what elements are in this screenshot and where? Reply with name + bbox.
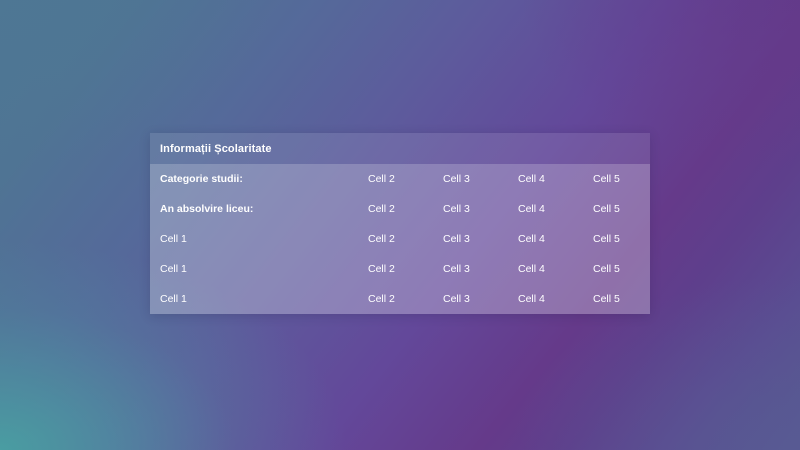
- table-cell: Cell 4: [518, 224, 593, 254]
- table-cell: Cell 3: [443, 284, 518, 314]
- table-cell: Cell 3: [443, 224, 518, 254]
- table-cell: Cell 2: [368, 254, 443, 284]
- table-cell: Cell 2: [368, 224, 443, 254]
- table-cell-label: An absolvire liceu:: [150, 194, 368, 224]
- table-cell: Cell 2: [368, 194, 443, 224]
- table-body: Categorie studii: Cell 2 Cell 3 Cell 4 C…: [150, 164, 660, 314]
- table-row[interactable]: Cell 1 Cell 2 Cell 3 Cell 4 Cell 5: [150, 254, 660, 284]
- schooling-info-card: Informații Școlaritate Categorie studii:…: [150, 133, 650, 314]
- table-row[interactable]: An absolvire liceu: Cell 2 Cell 3 Cell 4…: [150, 194, 660, 224]
- table-cell: Cell 1: [150, 224, 368, 254]
- page-title: Informații Școlaritate: [160, 143, 272, 155]
- table-row[interactable]: Cell 1 Cell 2 Cell 3 Cell 4 Cell 5: [150, 224, 660, 254]
- table-cell: Cell 5: [593, 284, 660, 314]
- table-row[interactable]: Cell 1 Cell 2 Cell 3 Cell 4 Cell 5: [150, 284, 660, 314]
- table-cell: Cell 1: [150, 284, 368, 314]
- table-cell-label: Categorie studii:: [150, 164, 368, 194]
- card-header: Informații Școlaritate: [150, 133, 650, 164]
- table-row[interactable]: Categorie studii: Cell 2 Cell 3 Cell 4 C…: [150, 164, 660, 194]
- table-cell: Cell 3: [443, 194, 518, 224]
- table-cell: Cell 4: [518, 194, 593, 224]
- table-cell: Cell 3: [443, 164, 518, 194]
- table-cell: Cell 5: [593, 164, 660, 194]
- table-cell: Cell 5: [593, 224, 660, 254]
- table-cell: Cell 2: [368, 284, 443, 314]
- table-cell: Cell 2: [368, 164, 443, 194]
- table-cell: Cell 5: [593, 194, 660, 224]
- table-cell: Cell 5: [593, 254, 660, 284]
- table-cell: Cell 4: [518, 254, 593, 284]
- table-cell: Cell 4: [518, 284, 593, 314]
- table-cell: Cell 4: [518, 164, 593, 194]
- table-cell: Cell 1: [150, 254, 368, 284]
- schooling-info-table: Categorie studii: Cell 2 Cell 3 Cell 4 C…: [150, 164, 660, 314]
- table-cell: Cell 3: [443, 254, 518, 284]
- card-body: Categorie studii: Cell 2 Cell 3 Cell 4 C…: [150, 164, 650, 314]
